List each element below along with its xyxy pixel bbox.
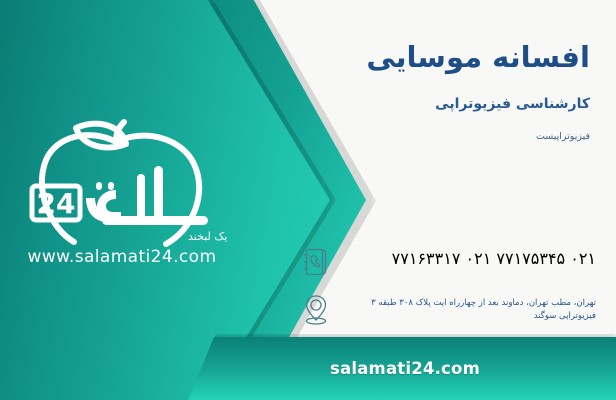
bottom-banner: salamati24.com <box>188 337 616 400</box>
business-card: 24 براحتی یک لبخند www.salamati24.com اف… <box>0 0 616 400</box>
phone-numbers: ۰۲۱ ۷۷۱۷۵۳۴۵ ۰۲۱ ۷۷۱۶۳۳۱۷ <box>334 243 598 268</box>
contact-row-phone: ۰۲۱ ۷۷۱۷۵۳۴۵ ۰۲۱ ۷۷۱۶۳۳۱۷ <box>298 243 598 281</box>
map-pin-icon <box>298 291 334 329</box>
person-name: افسانه موسایی <box>366 40 590 74</box>
phonebook-icon <box>298 243 334 281</box>
svg-text:24: 24 <box>37 187 76 220</box>
logo-badge-24: 24 <box>32 186 80 220</box>
address-line-2: فیزیوتراپی سوگند <box>334 310 596 323</box>
profession-line: فیزیوتراپیست <box>536 131 590 142</box>
logo-website: www.salamati24.com <box>28 247 217 267</box>
salamati24-logo: 24 براحتی یک لبخند www.salamati24.com <box>16 112 228 272</box>
logo-tagline: براحتی یک لبخند <box>188 230 228 243</box>
banner-website-url: salamati24.com <box>324 359 480 378</box>
contact-block: ۰۲۱ ۷۷۱۷۵۳۴۵ ۰۲۱ ۷۷۱۶۳۳۱۷ <box>298 243 598 339</box>
address-line-1: تهران، مطب تهران، دماوند بعد از چهارراه … <box>334 297 596 310</box>
credential-line: کارشناسی فیزیوتراپی <box>435 96 590 112</box>
contact-row-address: تهران، مطب تهران، دماوند بعد از چهارراه … <box>298 291 598 329</box>
address-text: تهران، مطب تهران، دماوند بعد از چهارراه … <box>334 291 598 323</box>
